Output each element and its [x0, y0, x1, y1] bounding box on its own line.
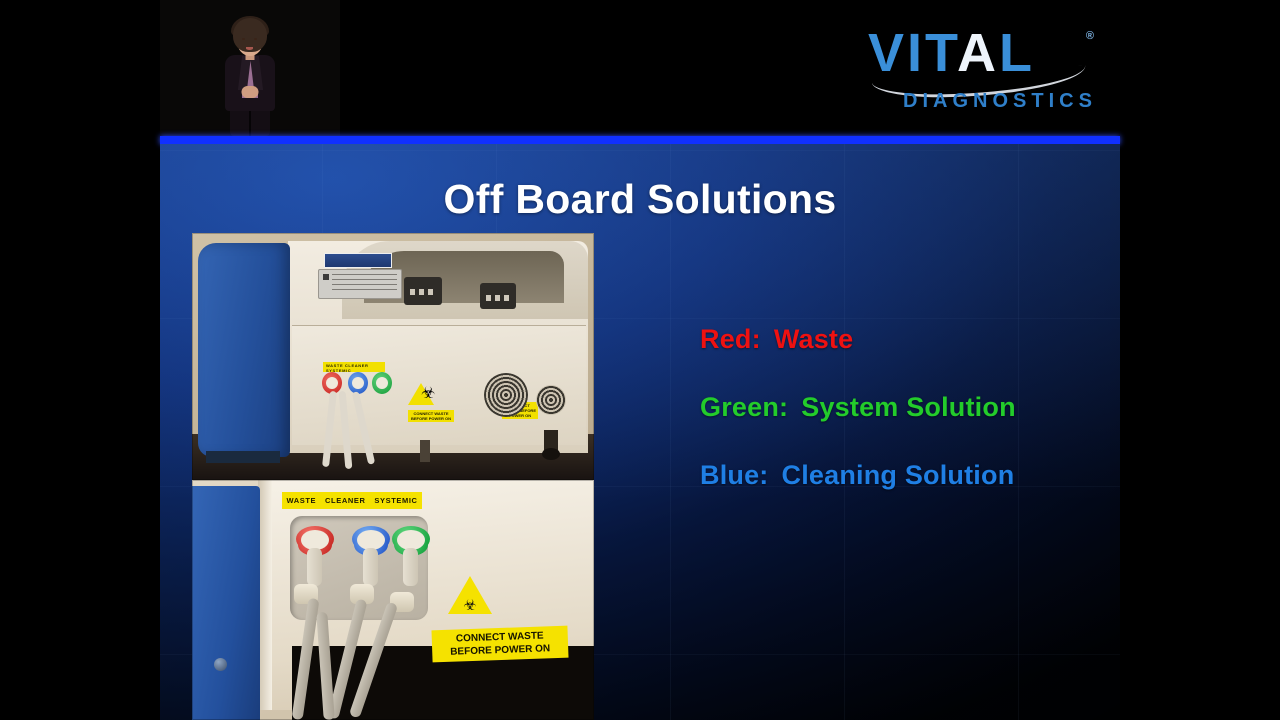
analyser-foot-left [420, 440, 430, 462]
photo-analyser-rear: WASTE CLEANER SYSTEMIC CONNECT WASTE BEF… [192, 233, 594, 480]
instrument-panel-screw [214, 658, 227, 671]
legend-value-red: Waste [774, 324, 854, 354]
legend-value-green: System Solution [801, 392, 1016, 422]
slide-viewer: VITAL ® DIAGNOSTICS Off Board Solutions … [0, 0, 1280, 720]
slide-canvas: Off Board Solutions Red:Waste Green:Syst… [160, 144, 1120, 720]
legend-label-red: Red: [700, 324, 761, 354]
avatar-hands [242, 86, 259, 98]
header-band: VITAL ® DIAGNOSTICS [0, 0, 1280, 136]
analyser-fan-vent-small [536, 385, 566, 415]
analyser-port-blue [348, 372, 368, 394]
connector-port-red [296, 526, 334, 556]
avatar-eye-left [242, 38, 245, 40]
legend-row-red: Red:Waste [700, 324, 1100, 355]
analyser-serial-plate [318, 269, 402, 299]
page-title: Off Board Solutions [160, 176, 1120, 223]
analyser-blue-side-panel [198, 243, 290, 457]
legend-label-blue: Blue: [700, 460, 769, 490]
legend-label-green: Green: [700, 392, 788, 422]
port-label-cleaner: CLEANER [325, 496, 365, 505]
legend-row-blue: Blue:Cleaning Solution [700, 460, 1100, 491]
solution-colour-legend: Red:Waste Green:System Solution Blue:Cle… [700, 324, 1100, 528]
analyser-warning-label-1: CONNECT WASTE BEFORE POWER ON [408, 410, 454, 422]
analyser-side-panel-base [206, 451, 280, 463]
presenter-video-thumbnail[interactable] [160, 0, 340, 136]
connector-biohazard-glyph: ☣ [448, 598, 492, 613]
connector-port-label-strip: WASTE CLEANER SYSTEMIC [282, 492, 422, 509]
instrument-side-edge [258, 480, 272, 710]
analyser-clamp-right [480, 283, 516, 309]
analyser-foot-right [544, 430, 558, 456]
legend-value-blue: Cleaning Solution [782, 460, 1015, 490]
registered-trademark-icon: ® [1086, 30, 1094, 42]
analyser-fan-vent-large [484, 373, 528, 417]
port-label-waste: WASTE [286, 496, 316, 505]
connector-warning-label: CONNECT WASTE BEFORE POWER ON [431, 626, 568, 663]
instrument-blue-panel [192, 486, 260, 720]
analyser-port-green [372, 372, 392, 394]
legend-row-green: Green:System Solution [700, 392, 1100, 423]
accent-rule [160, 136, 1120, 144]
analyser-port-label-strip: WASTE CLEANER SYSTEMIC [323, 362, 385, 372]
analyser-clamp-left [404, 277, 442, 305]
avatar-mouth [246, 47, 253, 50]
photo-column: WASTE CLEANER SYSTEMIC CONNECT WASTE BEF… [192, 233, 594, 720]
connector-port-blue [352, 526, 390, 556]
analyser-biohazard-icon [408, 383, 434, 405]
vital-diagnostics-logo: VITAL ® DIAGNOSTICS [868, 24, 1100, 116]
analyser-blue-sticker [324, 253, 392, 268]
avatar-eye-right [254, 38, 257, 40]
connector-port-green [392, 526, 430, 556]
logo-subtitle: DIAGNOSTICS [900, 90, 1100, 113]
photo-connector-panel: WASTE CLEANER SYSTEMIC [192, 480, 594, 720]
port-label-systemic: SYSTEMIC [374, 496, 417, 505]
